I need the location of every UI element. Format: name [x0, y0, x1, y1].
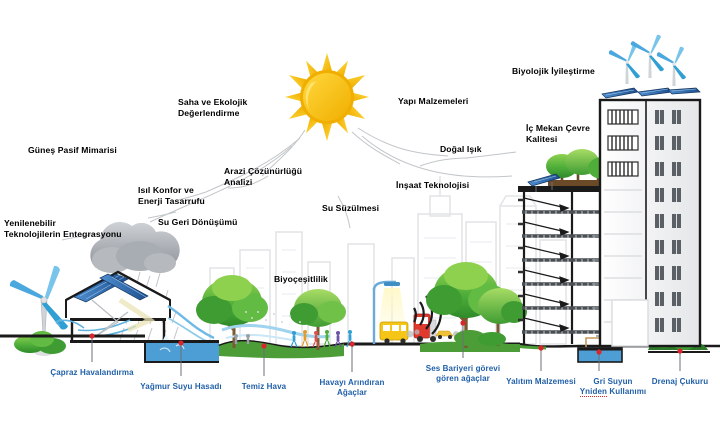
label-drenaj-cukuru: Drenaj Çukuru — [620, 377, 720, 387]
label-biyolojik-iyilestirme: Biyolojik İyileştirme — [512, 66, 595, 77]
label-yenilenebilir-teknolojiler: Yenilenebilir Teknolojilerin Entegrasyon… — [4, 218, 122, 239]
label-su-geri-donusumu: Su Geri Dönüşümü — [158, 217, 237, 228]
label-biyocesitlilik: Biyoçeşitlilik — [274, 274, 328, 285]
solar-panel-icon — [602, 88, 700, 98]
scene-artwork — [0, 0, 720, 427]
infographic-canvas: Güneş Pasif MimarisiYenilenebilir Teknol… — [0, 0, 720, 427]
label-dogal-isik: Doğal Işık — [440, 144, 482, 155]
label-insaat-teknolojisi: İnşaat Teknolojisi — [396, 180, 469, 191]
sun-icon — [285, 53, 369, 141]
label-arazi-cozunurlugu: Arazi Çözünürlüğü Analizi — [224, 166, 302, 187]
label-su-suzulmesi: Su Süzülmesi — [322, 203, 379, 214]
label-gunes-pasif-mimarisi: Güneş Pasif Mimarisi — [28, 145, 117, 156]
car-icon — [436, 331, 453, 339]
label-saha-ve-ekolojik: Saha ve Ekolojik Değerlendirme — [178, 97, 247, 118]
airflow-arrows — [56, 319, 136, 337]
label-ic-mekan-cevre-kalitesi: İç Mekan Çevre Kalitesi — [526, 123, 590, 144]
rainwater-harvest-tank — [145, 334, 219, 362]
label-isil-konfor: Isıl Konfor ve Enerji Tasarrufu — [138, 185, 205, 206]
misspelled-word: Yniden — [580, 387, 607, 397]
background-house — [612, 300, 648, 346]
label-yapi-malzemeleri: Yapı Malzemeleri — [398, 96, 468, 107]
label-line-2: Yniden Kullanımı — [553, 387, 673, 397]
label-havayi-arindiran-agaclar: Havayı Arındıran Ağaçlar — [292, 378, 412, 398]
roof-wind-turbines — [609, 35, 686, 86]
daylight-arrows — [524, 198, 568, 331]
label-capraz-havalandirma: Çapraz Havalandırma — [32, 368, 152, 378]
shrub-left — [14, 331, 66, 354]
